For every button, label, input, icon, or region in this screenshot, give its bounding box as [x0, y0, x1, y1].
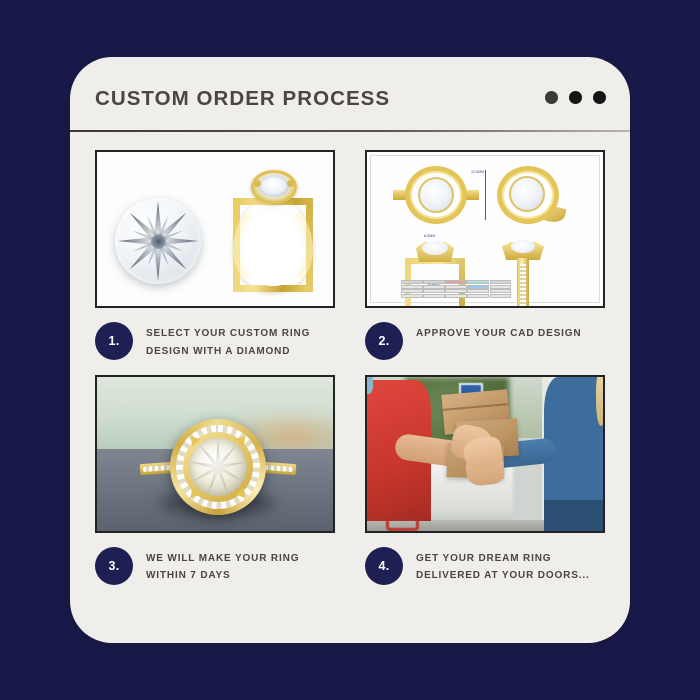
cad-design-sheet-illustration: 12.0MM 6.5MM 8.0MM [367, 152, 603, 306]
step-1-badge: 1. [95, 322, 133, 360]
step-3-caption: 3. WE WILL MAKE YOUR RING WITHIN 7 DAYS [95, 547, 335, 586]
step-4-text: GET YOUR DREAM RING DELIVERED AT YOUR DO… [416, 547, 601, 586]
step-2-text: APPROVE YOUR CAD DESIGN [416, 322, 582, 343]
header-divider [70, 130, 630, 132]
step-4-badge: 4. [365, 547, 403, 585]
gold-halo-ring-top-icon [170, 419, 266, 515]
process-step-1: 1. SELECT YOUR CUSTOM RING DESIGN WITH A… [95, 150, 335, 361]
step-2-caption: 2. APPROVE YOUR CAD DESIGN [365, 322, 605, 360]
page-title: CUSTOM ORDER PROCESS [95, 87, 390, 111]
custom-order-process-card: CUSTOM ORDER PROCESS [70, 57, 630, 643]
window-dot-2-icon[interactable] [569, 91, 582, 104]
step-3-badge: 3. [95, 547, 133, 585]
process-step-3: 3. WE WILL MAKE YOUR RING WITHIN 7 DAYS [95, 375, 335, 586]
process-step-2: 12.0MM 6.5MM 8.0MM [365, 150, 605, 361]
process-steps-grid: 1. SELECT YOUR CUSTOM RING DESIGN WITH A… [95, 150, 605, 585]
window-dot-3-icon[interactable] [593, 91, 606, 104]
window-controls[interactable] [545, 91, 606, 104]
step-1-text: SELECT YOUR CUSTOM RING DESIGN WITH A DI… [146, 322, 331, 361]
step-1-caption: 1. SELECT YOUR CUSTOM RING DESIGN WITH A… [95, 322, 335, 361]
gold-halo-ring-profile-icon [225, 168, 321, 296]
step-4-image[interactable] [365, 375, 605, 533]
cad-angled-view-icon [497, 166, 559, 224]
window-dot-1-icon[interactable] [545, 91, 558, 104]
step-4-caption: 4. GET YOUR DREAM RING DELIVERED AT YOUR… [365, 547, 605, 586]
cad-dimension-label: 12.0MM [471, 170, 484, 174]
finished-ring-photo-illustration [97, 377, 333, 531]
cad-top-view-icon [405, 166, 467, 224]
step-2-badge: 2. [365, 322, 403, 360]
card-header: CUSTOM ORDER PROCESS [70, 57, 630, 130]
step-2-image[interactable]: 12.0MM 6.5MM 8.0MM [365, 150, 605, 308]
cad-spec-table [401, 280, 511, 298]
step-3-text: WE WILL MAKE YOUR RING WITHIN 7 DAYS [146, 547, 331, 586]
step-1-image[interactable] [95, 150, 335, 308]
loose-diamond-icon [115, 198, 201, 284]
process-step-4: 4. GET YOUR DREAM RING DELIVERED AT YOUR… [365, 375, 605, 586]
cad-vertical-dimension-line [485, 170, 486, 220]
step-3-image[interactable] [95, 375, 335, 533]
delivery-handoff-photo-illustration [367, 377, 603, 531]
diamond-and-ring-illustration [97, 152, 333, 306]
